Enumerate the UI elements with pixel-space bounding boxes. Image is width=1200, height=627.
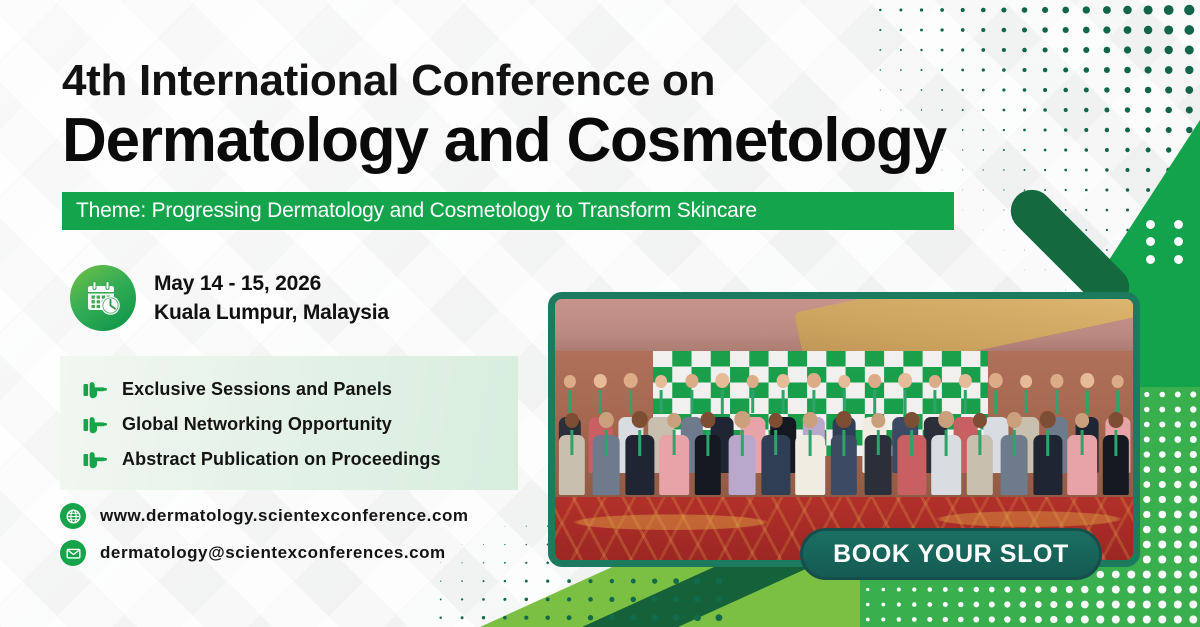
photo-person-head — [989, 373, 1003, 389]
photo-person-head — [777, 374, 790, 389]
photo-person-lanyard — [812, 390, 815, 414]
photo-person-head — [929, 375, 941, 388]
photo-person-lanyard — [660, 390, 663, 414]
photo-person-head — [594, 374, 607, 389]
photo-person-lanyard — [639, 430, 642, 455]
photo-person-head — [564, 375, 576, 388]
event-location: Kuala Lumpur, Malaysia — [154, 301, 389, 325]
photo-person — [864, 413, 891, 495]
list-item: Exclusive Sessions and Panels — [82, 372, 518, 407]
conference-banner: 4th International Conference on Dermatol… — [0, 0, 1200, 627]
photo-person-head — [655, 375, 667, 388]
photo-person-lanyard — [672, 430, 675, 455]
photo-person-head — [871, 413, 885, 429]
photo-person-lanyard — [706, 430, 709, 455]
email-row[interactable]: dermatology@scientexconferences.com — [60, 540, 469, 566]
email-label: dermatology@scientexconferences.com — [100, 543, 446, 563]
photo-person-lanyard — [979, 430, 982, 455]
calendar-clock-icon — [70, 265, 136, 331]
website-label: www.dermatology.scientexconference.com — [100, 506, 469, 526]
photo-person-head — [1109, 412, 1124, 429]
dot-grid-icon — [1146, 220, 1194, 264]
photo-person-head — [565, 413, 579, 429]
photo-person-head — [624, 373, 638, 389]
photo-person — [795, 412, 825, 495]
photo-person-head — [959, 374, 972, 389]
photo-person-lanyard — [690, 390, 693, 414]
book-your-slot-button[interactable]: BOOK YOUR SLOT — [800, 528, 1102, 580]
highlights-box: Exclusive Sessions and Panels Global Net… — [60, 356, 518, 490]
photo-person-head — [700, 412, 715, 429]
photo-person-lanyard — [910, 430, 913, 455]
photo-person-head — [598, 412, 613, 429]
photo-person-head — [1075, 413, 1089, 429]
photo-person-head — [769, 413, 783, 429]
photo-person-head — [685, 374, 698, 389]
pointing-hand-icon — [82, 414, 110, 436]
photo-person — [898, 412, 927, 495]
photo-person — [762, 413, 791, 495]
photo-person — [695, 412, 721, 495]
pointing-hand-icon — [82, 379, 110, 401]
photo-person — [626, 411, 655, 495]
photo-person — [728, 411, 755, 495]
photo-person-lanyard — [873, 390, 876, 414]
photo-person — [931, 411, 961, 495]
theme-text: Theme: Progressing Dermatology and Cosme… — [76, 199, 757, 223]
photo-person-lanyard — [1046, 430, 1049, 455]
photo-person — [592, 412, 619, 495]
photo-scene — [555, 299, 1133, 560]
photo-person-head — [734, 411, 750, 429]
photo-person-lanyard — [1012, 430, 1015, 455]
event-date: May 14 - 15, 2026 — [154, 272, 389, 296]
photo-person-head — [836, 411, 852, 429]
photo-person-head — [802, 412, 817, 429]
photo-person — [559, 413, 585, 495]
list-item: Abstract Publication on Proceedings — [82, 442, 518, 477]
photo-person-lanyard — [782, 390, 785, 414]
photo-person-head — [1021, 375, 1033, 388]
photo-person-lanyard — [1081, 430, 1084, 455]
contact-info: www.dermatology.scientexconference.com d… — [60, 503, 469, 566]
photo-person-lanyard — [843, 430, 846, 455]
photo-person-lanyard — [1115, 430, 1118, 455]
title-line-1: 4th International Conference on — [62, 58, 1002, 104]
website-row[interactable]: www.dermatology.scientexconference.com — [60, 503, 469, 529]
photo-person-lanyard — [1116, 390, 1119, 414]
photo-person-lanyard — [964, 390, 967, 414]
photo-person — [1000, 412, 1027, 495]
photo-person-head — [1006, 412, 1021, 429]
list-item-label: Exclusive Sessions and Panels — [122, 379, 392, 400]
photo-person-lanyard — [1086, 390, 1089, 414]
event-details: May 14 - 15, 2026 Kuala Lumpur, Malaysia — [70, 265, 389, 331]
photo-person-head — [1040, 411, 1056, 429]
photo-person-lanyard — [808, 430, 811, 455]
photo-person-lanyard — [876, 430, 879, 455]
page-title: 4th International Conference on Dermatol… — [62, 58, 1002, 173]
photo-person-lanyard — [775, 430, 778, 455]
photo-person-lanyard — [903, 390, 906, 414]
photo-person-head — [747, 375, 759, 388]
photo-person-head — [938, 411, 954, 429]
globe-icon — [60, 503, 86, 529]
cta-label: BOOK YOUR SLOT — [833, 540, 1069, 569]
photo-person-lanyard — [945, 430, 948, 455]
photo-person — [1067, 413, 1097, 495]
list-item-label: Global Networking Opportunity — [122, 414, 392, 435]
photo-person-lanyard — [721, 390, 724, 414]
photo-person-head — [838, 375, 850, 388]
photo-person-head — [632, 411, 648, 429]
photo-person-head — [715, 373, 729, 389]
photo-person-head — [868, 374, 881, 389]
photo-delegates — [555, 341, 1133, 503]
pointing-hand-icon — [82, 449, 110, 471]
photo-person — [1034, 411, 1063, 495]
list-item-label: Abstract Publication on Proceedings — [122, 449, 441, 470]
photo-person-lanyard — [570, 430, 573, 455]
photo-person — [1103, 412, 1129, 495]
title-line-2: Dermatology and Cosmetology — [62, 108, 1002, 173]
photo-person-lanyard — [604, 430, 607, 455]
photo-person — [659, 413, 689, 495]
theme-banner: Theme: Progressing Dermatology and Cosme… — [62, 192, 954, 230]
photo-person-head — [1080, 373, 1094, 389]
photo-person-lanyard — [1025, 390, 1028, 414]
photo-person-head — [1050, 374, 1063, 389]
photo-person-lanyard — [995, 390, 998, 414]
conference-group-photo — [548, 292, 1140, 567]
photo-person-head — [807, 373, 821, 389]
photo-person — [831, 411, 857, 495]
photo-person-head — [904, 412, 919, 429]
photo-person-head — [1112, 375, 1124, 388]
photo-person — [967, 413, 993, 495]
list-item: Global Networking Opportunity — [82, 407, 518, 442]
photo-person-head — [973, 413, 987, 429]
photo-person-lanyard — [599, 390, 602, 414]
photo-person-head — [667, 413, 681, 429]
photo-person-lanyard — [569, 390, 572, 414]
photo-person-head — [898, 373, 912, 389]
envelope-icon — [60, 540, 86, 566]
photo-person-lanyard — [740, 430, 743, 455]
